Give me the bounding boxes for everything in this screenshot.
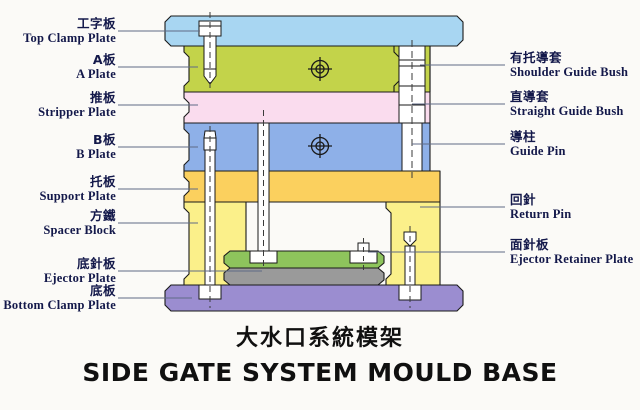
label-ejector-retainer-plate-cn: 面針板 — [510, 238, 633, 252]
label-a-plate-cn: A板 — [76, 53, 116, 67]
label-return-pin: 回針 Return Pin — [510, 193, 571, 221]
label-stripper-plate-cn: 推板 — [38, 91, 116, 105]
title-english: SIDE GATE SYSTEM MOULD BASE — [0, 358, 640, 387]
label-top-clamp-plate-cn: 工字板 — [23, 17, 116, 31]
plate-b-plate — [184, 123, 430, 171]
label-spacer-block-en: Spacer Block — [43, 223, 116, 237]
diagram-title: 大水口系統模架 SIDE GATE SYSTEM MOULD BASE — [0, 320, 640, 387]
mould-base-diagram: 工字板 Top Clamp Plate A板 A Plate 推板 Stripp… — [0, 0, 640, 410]
label-support-plate-cn: 托板 — [39, 175, 116, 189]
label-stripper-plate: 推板 Stripper Plate — [38, 91, 116, 119]
label-guide-pin: 導柱 Guide Pin — [510, 130, 566, 158]
label-bottom-clamp-plate-cn: 底板 — [3, 284, 116, 298]
label-ejector-retainer-plate-en: Ejector Retainer Plate — [510, 252, 633, 266]
label-straight-guide-bush-en: Straight Guide Bush — [510, 104, 624, 118]
label-guide-pin-cn: 導柱 — [510, 130, 566, 144]
label-top-clamp-plate: 工字板 Top Clamp Plate — [23, 17, 116, 45]
label-ejector-retainer-plate: 面針板 Ejector Retainer Plate — [510, 238, 633, 266]
label-bottom-clamp-plate-en: Bottom Clamp Plate — [3, 298, 116, 312]
label-shoulder-guide-bush-en: Shoulder Guide Bush — [510, 65, 628, 79]
label-a-plate-en: A Plate — [76, 67, 116, 81]
plate-support-plate — [184, 171, 440, 202]
label-spacer-block-cn: 方鐵 — [43, 209, 116, 223]
plate-stripper-plate — [184, 92, 430, 123]
label-spacer-block: 方鐵 Spacer Block — [43, 209, 116, 237]
label-straight-guide-bush: 直導套 Straight Guide Bush — [510, 90, 624, 118]
plate-a-plate — [184, 46, 430, 92]
label-support-plate-en: Support Plate — [39, 189, 116, 203]
label-b-plate: B板 B Plate — [76, 133, 116, 161]
label-straight-guide-bush-cn: 直導套 — [510, 90, 624, 104]
label-shoulder-guide-bush-cn: 有托導套 — [510, 51, 628, 65]
label-support-plate: 托板 Support Plate — [39, 175, 116, 203]
label-return-pin-cn: 回針 — [510, 193, 571, 207]
label-ejector-plate: 底針板 Ejector Plate — [44, 257, 116, 285]
label-top-clamp-plate-en: Top Clamp Plate — [23, 31, 116, 45]
title-chinese: 大水口系統模架 — [0, 320, 640, 352]
label-b-plate-en: B Plate — [76, 147, 116, 161]
label-ejector-plate-cn: 底針板 — [44, 257, 116, 271]
label-b-plate-cn: B板 — [76, 133, 116, 147]
label-return-pin-en: Return Pin — [510, 207, 571, 221]
label-bottom-clamp-plate: 底板 Bottom Clamp Plate — [3, 284, 116, 312]
label-a-plate: A板 A Plate — [76, 53, 116, 81]
guide-pin-assembly — [399, 40, 425, 178]
label-guide-pin-en: Guide Pin — [510, 144, 566, 158]
label-stripper-plate-en: Stripper Plate — [38, 105, 116, 119]
label-shoulder-guide-bush: 有托導套 Shoulder Guide Bush — [510, 51, 628, 79]
